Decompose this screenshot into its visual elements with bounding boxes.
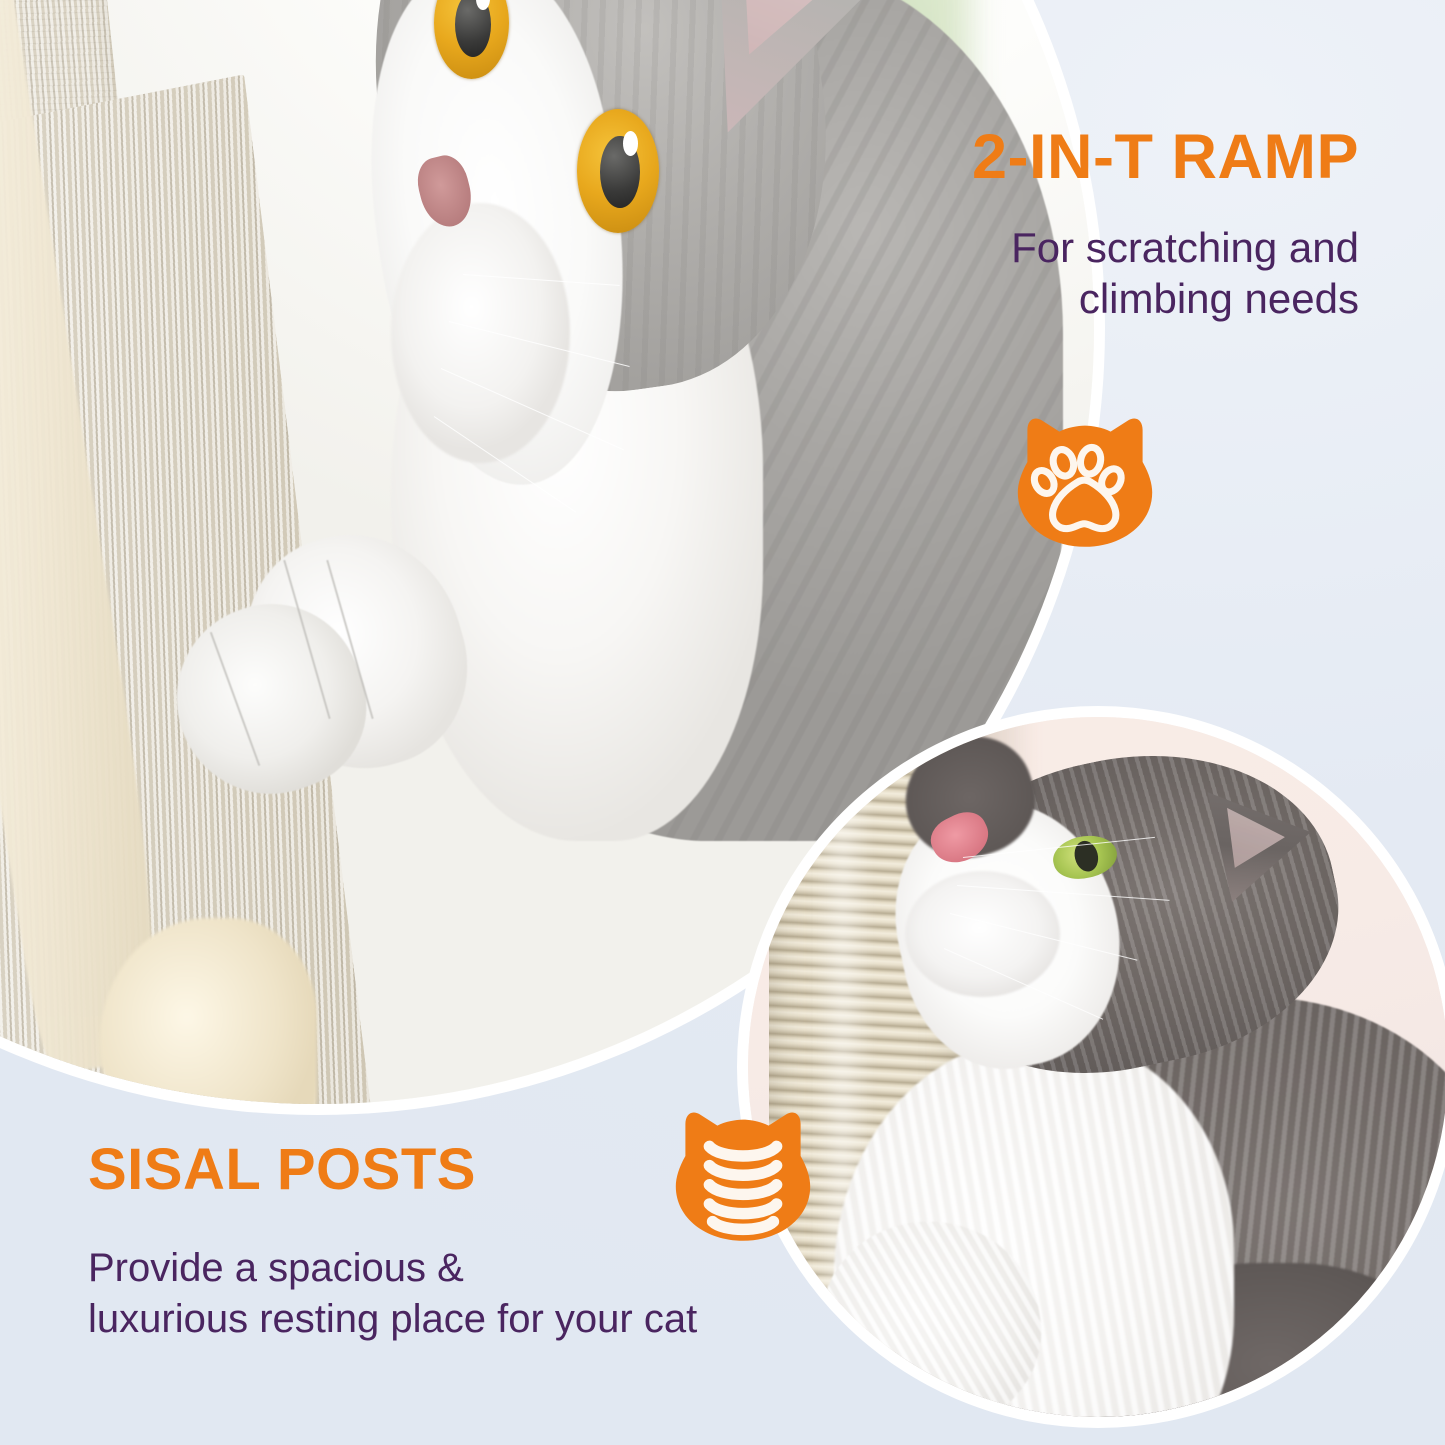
ramp-headline: 2-IN-T RAMP (972, 126, 1359, 189)
product-feature-graphic: 2-IN-T RAMP For scratching and climbing … (0, 0, 1445, 1445)
ramp-subtitle-line-1: For scratching and (1011, 222, 1359, 273)
sisal-post-photo (748, 717, 1445, 1417)
sisal-subtitle-line-1: Provide a spacious & (88, 1243, 697, 1294)
cat-muzzle (391, 203, 570, 463)
cat-eye-right (577, 109, 659, 233)
cat-head-rope-icon (662, 1092, 824, 1252)
eye-glint (476, 0, 490, 10)
ramp-subtitle: For scratching and climbing needs (1011, 222, 1359, 324)
eye-glint (623, 131, 638, 156)
cat-head-paw-icon (1004, 398, 1166, 558)
tabby-cat (349, 0, 1063, 793)
sisal-post-photo-circle (737, 706, 1445, 1428)
fluffy-cat (860, 759, 1445, 1417)
sisal-subtitle-line-2: luxurious resting place for your cat (88, 1294, 697, 1345)
sisal-subtitle: Provide a spacious & luxurious resting p… (88, 1243, 697, 1345)
ramp-subtitle-line-2: climbing needs (1011, 273, 1359, 324)
sisal-headline: SISAL POSTS (88, 1141, 476, 1199)
